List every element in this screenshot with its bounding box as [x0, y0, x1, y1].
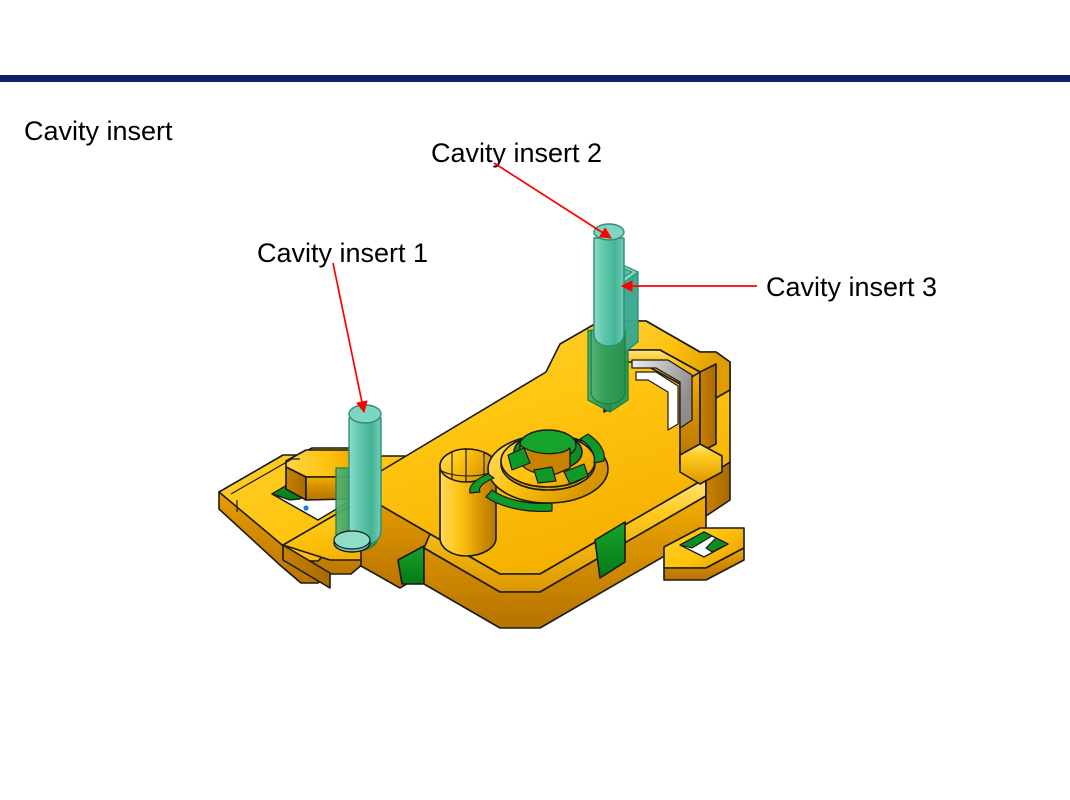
- model-geometry: [219, 224, 744, 628]
- teal-insert-1-cylinder: [334, 405, 381, 552]
- leader-cavity-insert-1: [333, 263, 364, 412]
- teal-insert-2-cylinder: [591, 224, 625, 404]
- slide-canvas: Cavity insert Cavity insert 1 Cavity ins…: [0, 0, 1070, 800]
- selected-vertex-dot: [303, 505, 308, 510]
- leader-cavity-insert-2: [494, 163, 611, 238]
- cad-model-viewport: [0, 0, 1070, 800]
